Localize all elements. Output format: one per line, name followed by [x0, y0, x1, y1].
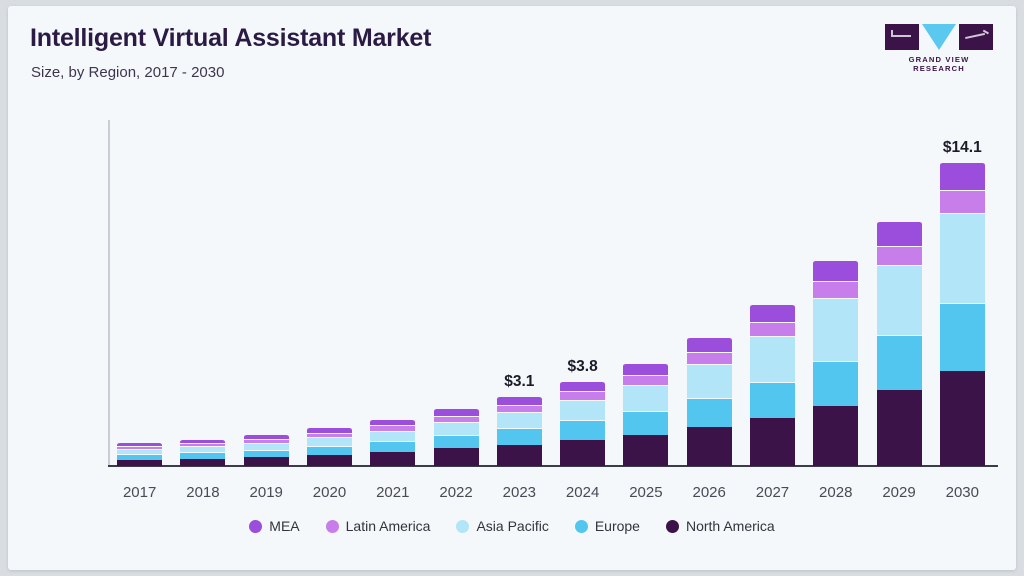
x-axis-tick: 2023	[503, 484, 536, 501]
bar-segment[interactable]	[687, 364, 732, 398]
legend-item[interactable]: Latin America	[326, 518, 431, 534]
bar-segment[interactable]	[940, 190, 985, 212]
bar-segment[interactable]	[623, 363, 668, 376]
bar-segment[interactable]	[877, 335, 922, 390]
chart-legend: MEALatin AmericaAsia PacificEuropeNorth …	[8, 518, 1016, 534]
bar-segment[interactable]	[560, 440, 605, 466]
x-axis-tick: 2022	[439, 484, 472, 501]
stacked-bar[interactable]	[687, 337, 732, 466]
legend-swatch-icon	[456, 520, 469, 533]
legend-label: Latin America	[346, 518, 431, 534]
bar-segment[interactable]	[687, 398, 732, 427]
bar-column[interactable]: 2021	[361, 118, 424, 466]
page-title: Intelligent Virtual Assistant Market	[30, 24, 431, 53]
bar-segment[interactable]	[877, 390, 922, 466]
bar-value-label: $14.1	[943, 139, 982, 157]
bar-segment[interactable]	[813, 298, 858, 361]
legend-label: MEA	[269, 518, 299, 534]
bar-segment[interactable]	[497, 412, 542, 428]
bar-segment[interactable]	[560, 420, 605, 440]
stacked-bar[interactable]	[497, 396, 542, 466]
x-axis-tick: 2021	[376, 484, 409, 501]
x-axis-tick: 2018	[186, 484, 219, 501]
x-axis-tick: 2026	[692, 484, 725, 501]
plot-area: 0246810121416 201720182019202020212022$3…	[108, 118, 994, 466]
legend-label: Europe	[595, 518, 640, 534]
legend-swatch-icon	[326, 520, 339, 533]
x-axis-tick: 2025	[629, 484, 662, 501]
stacked-bar[interactable]	[813, 260, 858, 466]
bar-segment[interactable]	[877, 221, 922, 245]
bar-segment[interactable]	[244, 457, 289, 466]
bar-segment[interactable]	[940, 162, 985, 191]
bar-segment[interactable]	[687, 337, 732, 352]
bar-segment[interactable]	[623, 435, 668, 466]
logo-wordmark: GRAND VIEW RESEARCH	[884, 55, 994, 73]
bar-segment[interactable]	[750, 322, 795, 336]
bar-segment[interactable]	[434, 408, 479, 416]
legend-swatch-icon	[249, 520, 262, 533]
bar-segment[interactable]	[434, 435, 479, 448]
bar-segment[interactable]	[750, 418, 795, 466]
bar-segment[interactable]	[813, 406, 858, 466]
bar-segment[interactable]	[813, 361, 858, 407]
stacked-bar[interactable]	[750, 304, 795, 466]
stacked-bar[interactable]	[244, 434, 289, 466]
chart-subtitle: Size, by Region, 2017 - 2030	[31, 64, 224, 81]
bar-segment[interactable]	[497, 396, 542, 405]
stacked-bar[interactable]	[370, 419, 415, 466]
x-axis-tick: 2029	[882, 484, 915, 501]
legend-item[interactable]: MEA	[249, 518, 299, 534]
legend-item[interactable]: North America	[666, 518, 775, 534]
logo-left-block-icon	[885, 24, 919, 50]
bar-segment[interactable]	[560, 391, 605, 400]
bar-segment[interactable]	[307, 455, 352, 466]
bar-segment[interactable]	[117, 460, 162, 466]
stacked-bar[interactable]	[180, 439, 225, 466]
bar-segment[interactable]	[877, 265, 922, 335]
bar-column[interactable]: 2018	[171, 118, 234, 466]
bar-column[interactable]: 2020	[298, 118, 361, 466]
x-axis-tick: 2030	[946, 484, 979, 501]
bar-segment[interactable]	[307, 437, 352, 445]
legend-swatch-icon	[575, 520, 588, 533]
bar-column[interactable]: 2019	[235, 118, 298, 466]
bar-segment[interactable]	[623, 411, 668, 435]
x-axis-tick: 2028	[819, 484, 852, 501]
bar-segment[interactable]	[813, 281, 858, 298]
bar-column[interactable]: $14.12030	[931, 118, 994, 466]
x-axis-tick: 2019	[250, 484, 283, 501]
bar-segment[interactable]	[244, 450, 289, 457]
bar-value-label: $3.1	[504, 373, 534, 391]
bar-group: 201720182019202020212022$3.12023$3.82024…	[108, 118, 994, 466]
screenshot-root: Intelligent Virtual Assistant Market Siz…	[0, 0, 1024, 576]
bar-column[interactable]: 2027	[741, 118, 804, 466]
legend-swatch-icon	[666, 520, 679, 533]
x-axis-tick: 2027	[756, 484, 789, 501]
logo-right-block-icon	[959, 24, 993, 50]
x-axis-tick: 2024	[566, 484, 599, 501]
stacked-bar[interactable]	[877, 221, 922, 466]
bar-segment[interactable]	[497, 405, 542, 412]
bar-column[interactable]: 2017	[108, 118, 171, 466]
bar-segment[interactable]	[497, 428, 542, 444]
bar-segment[interactable]	[750, 304, 795, 322]
bar-column[interactable]: 2029	[867, 118, 930, 466]
chart-card: Intelligent Virtual Assistant Market Siz…	[8, 6, 1016, 570]
bar-segment[interactable]	[497, 445, 542, 466]
bar-column[interactable]: 2025	[614, 118, 677, 466]
x-axis-tick: 2020	[313, 484, 346, 501]
stacked-bar[interactable]	[560, 381, 605, 466]
bar-segment[interactable]	[370, 452, 415, 466]
bar-segment[interactable]	[750, 382, 795, 418]
legend-item[interactable]: Asia Pacific	[456, 518, 548, 534]
bar-column[interactable]: $3.82024	[551, 118, 614, 466]
legend-label: North America	[686, 518, 775, 534]
bar-segment[interactable]	[180, 459, 225, 466]
bar-segment[interactable]	[434, 422, 479, 435]
bar-segment[interactable]	[940, 303, 985, 371]
bar-segment[interactable]	[623, 375, 668, 385]
bar-segment[interactable]	[877, 246, 922, 265]
legend-item[interactable]: Europe	[575, 518, 640, 534]
grand-view-research-logo: GRAND VIEW RESEARCH	[884, 24, 994, 66]
bar-column[interactable]: 2022	[424, 118, 487, 466]
bar-segment[interactable]	[560, 400, 605, 420]
bar-segment[interactable]	[687, 352, 732, 364]
bar-segment[interactable]	[370, 441, 415, 452]
stacked-bar[interactable]	[307, 427, 352, 466]
bar-segment[interactable]	[244, 443, 289, 450]
bar-column[interactable]: 2028	[804, 118, 867, 466]
bar-segment[interactable]	[434, 448, 479, 466]
x-axis-tick: 2017	[123, 484, 156, 501]
logo-marks	[884, 24, 994, 50]
bar-value-label: $3.8	[568, 358, 598, 376]
bar-column[interactable]: $3.12023	[488, 118, 551, 466]
legend-label: Asia Pacific	[476, 518, 548, 534]
stacked-bar[interactable]	[117, 442, 162, 466]
bar-segment[interactable]	[623, 385, 668, 411]
bar-column[interactable]: 2026	[678, 118, 741, 466]
stacked-bar[interactable]	[940, 162, 985, 466]
bar-segment[interactable]	[940, 213, 985, 304]
stacked-bar[interactable]	[434, 408, 479, 466]
bar-segment[interactable]	[940, 371, 985, 466]
logo-triangle-icon	[922, 24, 956, 50]
stacked-bar[interactable]	[623, 363, 668, 466]
bar-segment[interactable]	[307, 446, 352, 455]
bar-segment[interactable]	[560, 381, 605, 392]
bar-segment[interactable]	[750, 336, 795, 382]
bar-segment[interactable]	[813, 260, 858, 281]
bar-segment[interactable]	[370, 431, 415, 441]
bar-segment[interactable]	[687, 427, 732, 466]
